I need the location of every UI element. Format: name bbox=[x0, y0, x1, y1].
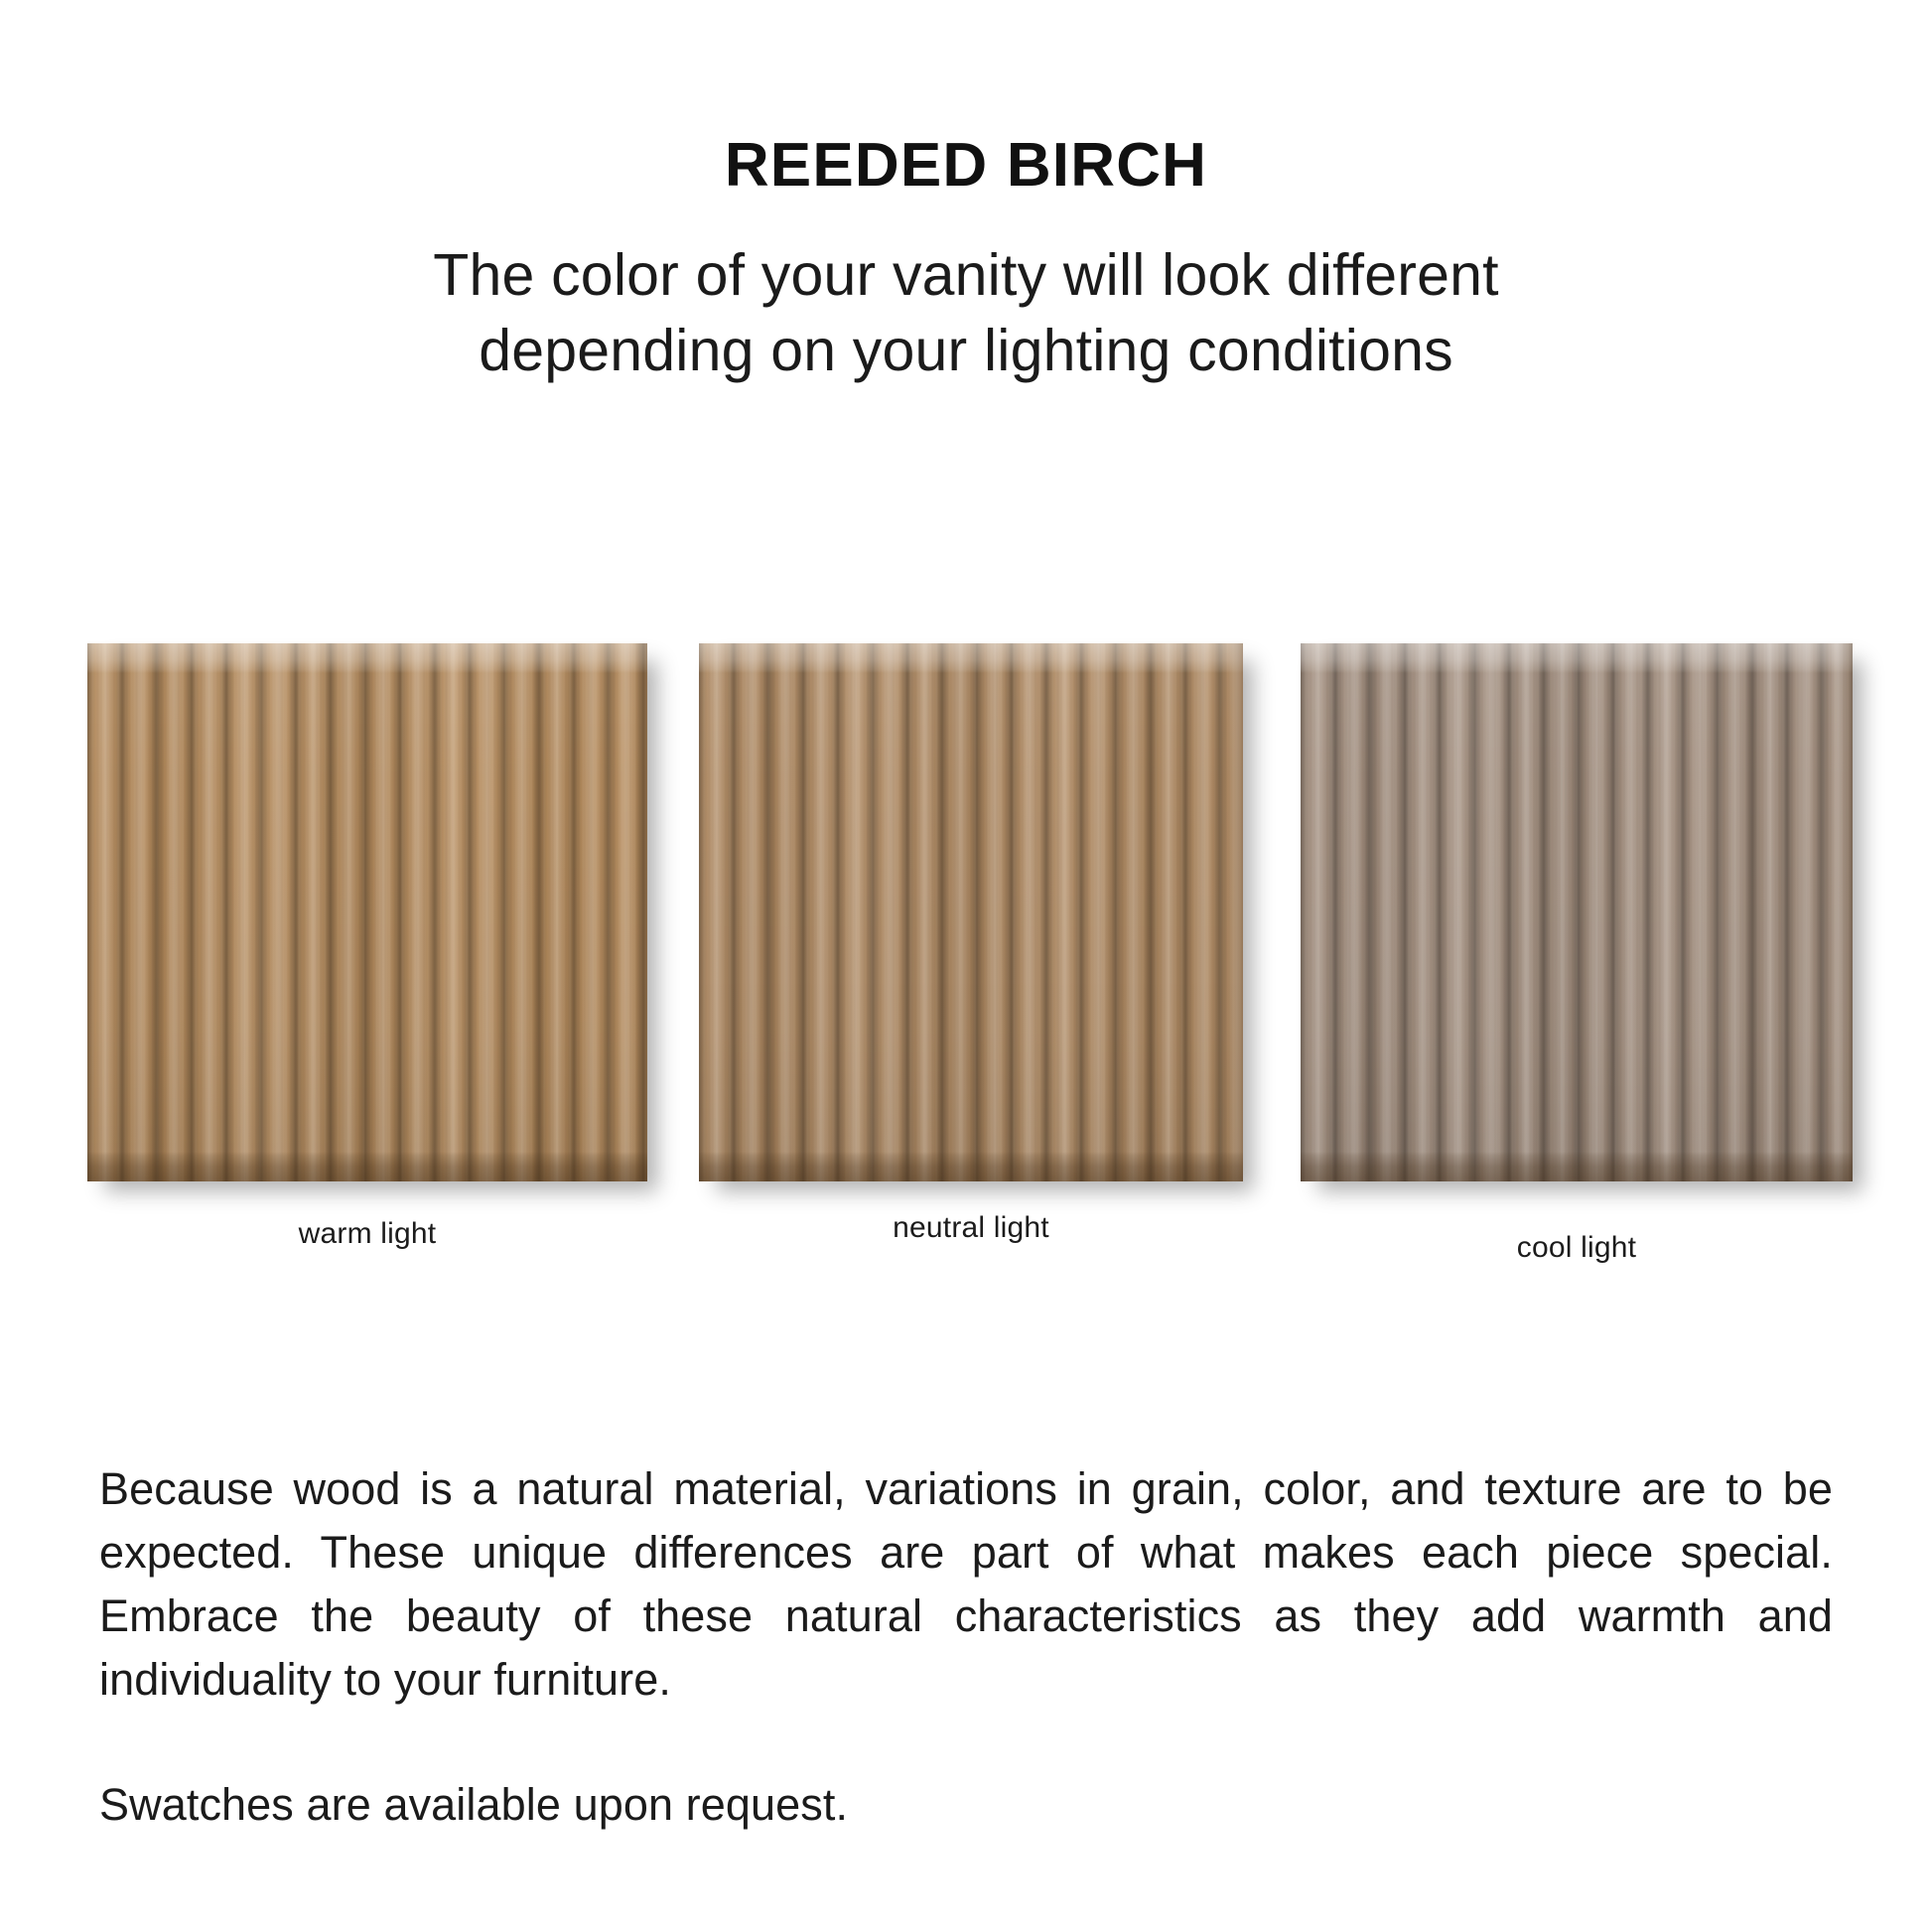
swatch-warm-light[interactable]: warm light bbox=[87, 643, 647, 1181]
panel-wood-grain bbox=[699, 643, 1243, 1181]
panel-top-bevel bbox=[1301, 643, 1853, 673]
paragraph-spacer bbox=[99, 1712, 1833, 1773]
reeded-wood-panel[interactable] bbox=[699, 643, 1243, 1181]
panel-top-bevel bbox=[87, 643, 647, 673]
page-title: REEDED BIRCH bbox=[0, 133, 1932, 198]
swatch-neutral-light[interactable]: neutral light bbox=[699, 643, 1243, 1181]
subtitle-line-2: depending on your lighting conditions bbox=[0, 314, 1932, 389]
swatch-caption: warm light bbox=[87, 1217, 647, 1251]
panel-wood-grain bbox=[1301, 643, 1853, 1181]
body-copy: Because wood is a natural material, vari… bbox=[99, 1457, 1833, 1836]
panel-right-bevel bbox=[1837, 643, 1853, 1181]
swatch-caption: neutral light bbox=[699, 1211, 1243, 1245]
swatch-caption: cool light bbox=[1301, 1231, 1853, 1265]
swatch-info-page: REEDED BIRCH The color of your vanity wi… bbox=[0, 0, 1932, 1932]
panel-right-bevel bbox=[631, 643, 647, 1181]
panel-bottom-bevel bbox=[699, 1152, 1243, 1181]
panel-bottom-bevel bbox=[87, 1152, 647, 1181]
body-paragraph-natural-variation: Because wood is a natural material, vari… bbox=[99, 1457, 1833, 1712]
panel-right-bevel bbox=[1227, 643, 1243, 1181]
reeded-wood-panel[interactable] bbox=[87, 643, 647, 1181]
swatch-gallery: warm light neutral light bbox=[0, 643, 1932, 1199]
subtitle-line-1: The color of your vanity will look diffe… bbox=[0, 238, 1932, 314]
page-subtitle: The color of your vanity will look diffe… bbox=[0, 238, 1932, 388]
swatch-cool-light[interactable]: cool light bbox=[1301, 643, 1853, 1181]
body-paragraph-swatch-request: Swatches are available upon request. bbox=[99, 1773, 1833, 1837]
panel-wood-grain bbox=[87, 643, 647, 1181]
panel-top-bevel bbox=[699, 643, 1243, 673]
reeded-wood-panel[interactable] bbox=[1301, 643, 1853, 1181]
panel-bottom-bevel bbox=[1301, 1152, 1853, 1181]
